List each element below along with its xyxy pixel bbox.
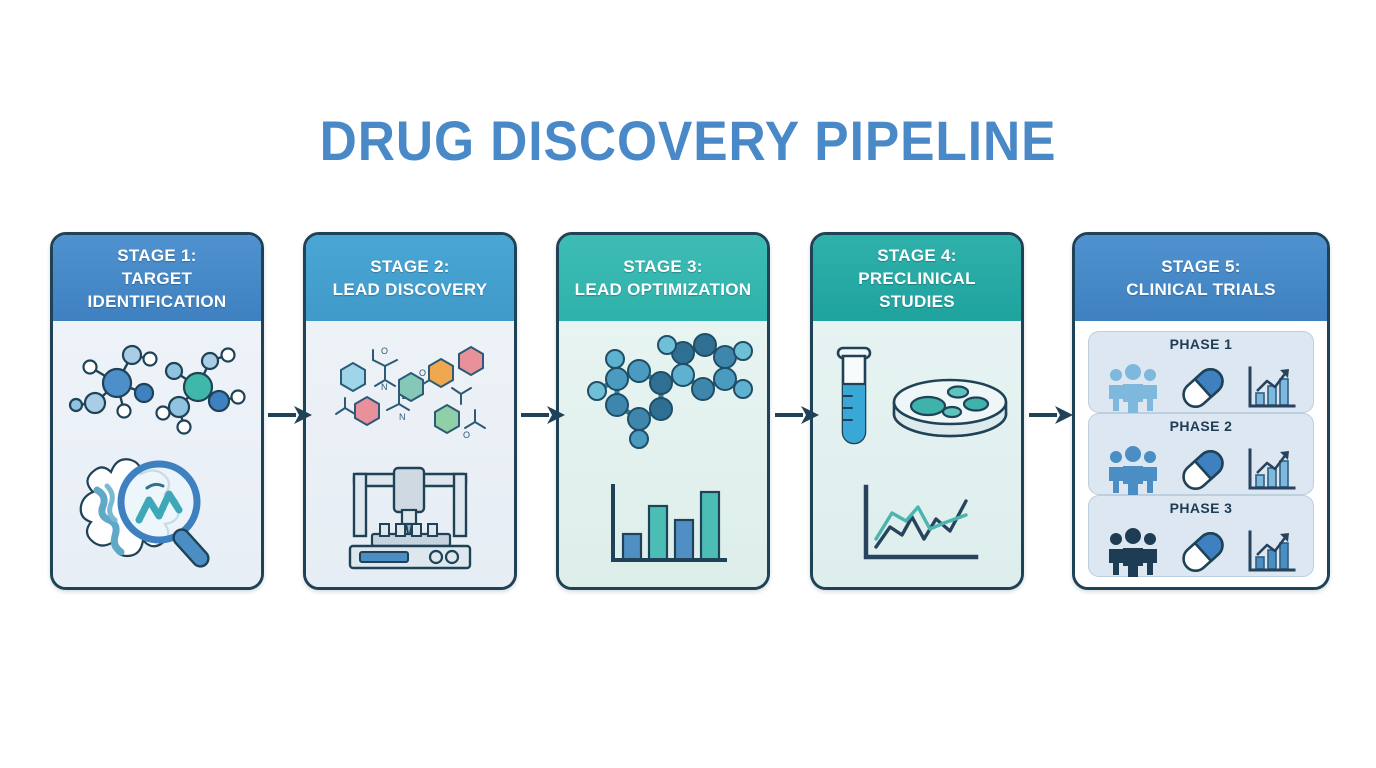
pill-capsule-icon: [1179, 530, 1227, 574]
stage-2-body: OOO NN: [306, 321, 514, 587]
petri-dish-icon: [894, 380, 1006, 436]
people-icon: [1105, 363, 1161, 413]
stage-3-number: STAGE 3:: [571, 255, 756, 278]
phase-1-icons: [1088, 357, 1314, 419]
stage-1-body: [53, 321, 261, 587]
pipeline-stages: STAGE 1: TARGET IDENTIFICATION: [0, 0, 1376, 768]
stage-3-body: [559, 321, 767, 587]
stage-3-bar-chart: [599, 482, 727, 566]
stage-4-line-chart: [854, 481, 980, 565]
phase-row-1[interactable]: PHASE 1: [1088, 331, 1314, 413]
growth-chart-icon: [1245, 447, 1297, 493]
phase-3-label: PHASE 3: [1088, 500, 1314, 516]
phase-1-label: PHASE 1: [1088, 336, 1314, 352]
stage-5-header: STAGE 5: CLINICAL TRIALS: [1075, 235, 1327, 321]
stage-1-molecules: [62, 331, 252, 439]
stage-5-name: CLINICAL TRIALS: [1122, 278, 1280, 301]
diagram-canvas: DRUG DISCOVERY PIPELINE STAGE 1: TARGET …: [0, 0, 1376, 768]
phase-2-icons: [1088, 439, 1314, 501]
stage-1-name: TARGET IDENTIFICATION: [57, 267, 257, 313]
stage-card-2[interactable]: STAGE 2: LEAD DISCOVERY: [303, 232, 517, 590]
pill-capsule-icon: [1179, 366, 1227, 410]
test-tube-icon: [838, 348, 870, 443]
stage-4-name: PRECLINICAL STUDIES: [817, 267, 1017, 313]
svg-text:O: O: [381, 346, 388, 356]
svg-text:O: O: [419, 368, 426, 378]
svg-text:N: N: [381, 382, 388, 392]
stage-2-chemical-structures: OOO NN: [315, 332, 505, 450]
growth-chart-icon: [1245, 529, 1297, 575]
stage-2-header: STAGE 2: LEAD DISCOVERY: [306, 235, 514, 321]
stage-1-header: STAGE 1: TARGET IDENTIFICATION: [53, 235, 261, 321]
stage-2-number: STAGE 2:: [329, 255, 492, 278]
arrow-stage4-stage5: [1029, 404, 1073, 426]
svg-text:O: O: [463, 430, 470, 440]
arrow-stage3-stage4: [775, 404, 819, 426]
phase-2-label: PHASE 2: [1088, 418, 1314, 434]
stage-3-name: LEAD OPTIMIZATION: [571, 278, 756, 301]
stage-3-header: STAGE 3: LEAD OPTIMIZATION: [559, 235, 767, 321]
growth-chart-icon: [1245, 365, 1297, 411]
phase-row-2[interactable]: PHASE 2: [1088, 413, 1314, 495]
stage-2-screening-robot: [332, 460, 488, 572]
stage-3-ball-stick-molecule: [571, 339, 755, 459]
stage-card-5[interactable]: STAGE 5: CLINICAL TRIALS PHASE 1: [1072, 232, 1330, 590]
stage-card-3[interactable]: STAGE 3: LEAD OPTIMIZATION: [556, 232, 770, 590]
stage-card-4[interactable]: STAGE 4: PRECLINICAL STUDIES: [810, 232, 1024, 590]
phase-3-icons: [1088, 521, 1314, 583]
stage-5-number: STAGE 5:: [1122, 255, 1280, 278]
stage-4-body: [813, 321, 1021, 587]
stage-5-body: PHASE 1: [1075, 321, 1327, 587]
stage-1-protein-magnifier: [67, 446, 247, 574]
stage-2-name: LEAD DISCOVERY: [329, 278, 492, 301]
phase-row-3[interactable]: PHASE 3: [1088, 495, 1314, 577]
people-icon: [1105, 445, 1161, 495]
stage-4-number: STAGE 4:: [817, 244, 1017, 267]
stage-card-1[interactable]: STAGE 1: TARGET IDENTIFICATION: [50, 232, 264, 590]
arrow-stage1-stage2: [268, 404, 312, 426]
arrow-stage2-stage3: [521, 404, 565, 426]
stage-4-lab-icons: [824, 340, 1010, 456]
svg-text:N: N: [399, 412, 406, 422]
pill-capsule-icon: [1179, 448, 1227, 492]
stage-1-number: STAGE 1:: [57, 244, 257, 267]
stage-4-header: STAGE 4: PRECLINICAL STUDIES: [813, 235, 1021, 321]
people-icon: [1105, 527, 1161, 577]
